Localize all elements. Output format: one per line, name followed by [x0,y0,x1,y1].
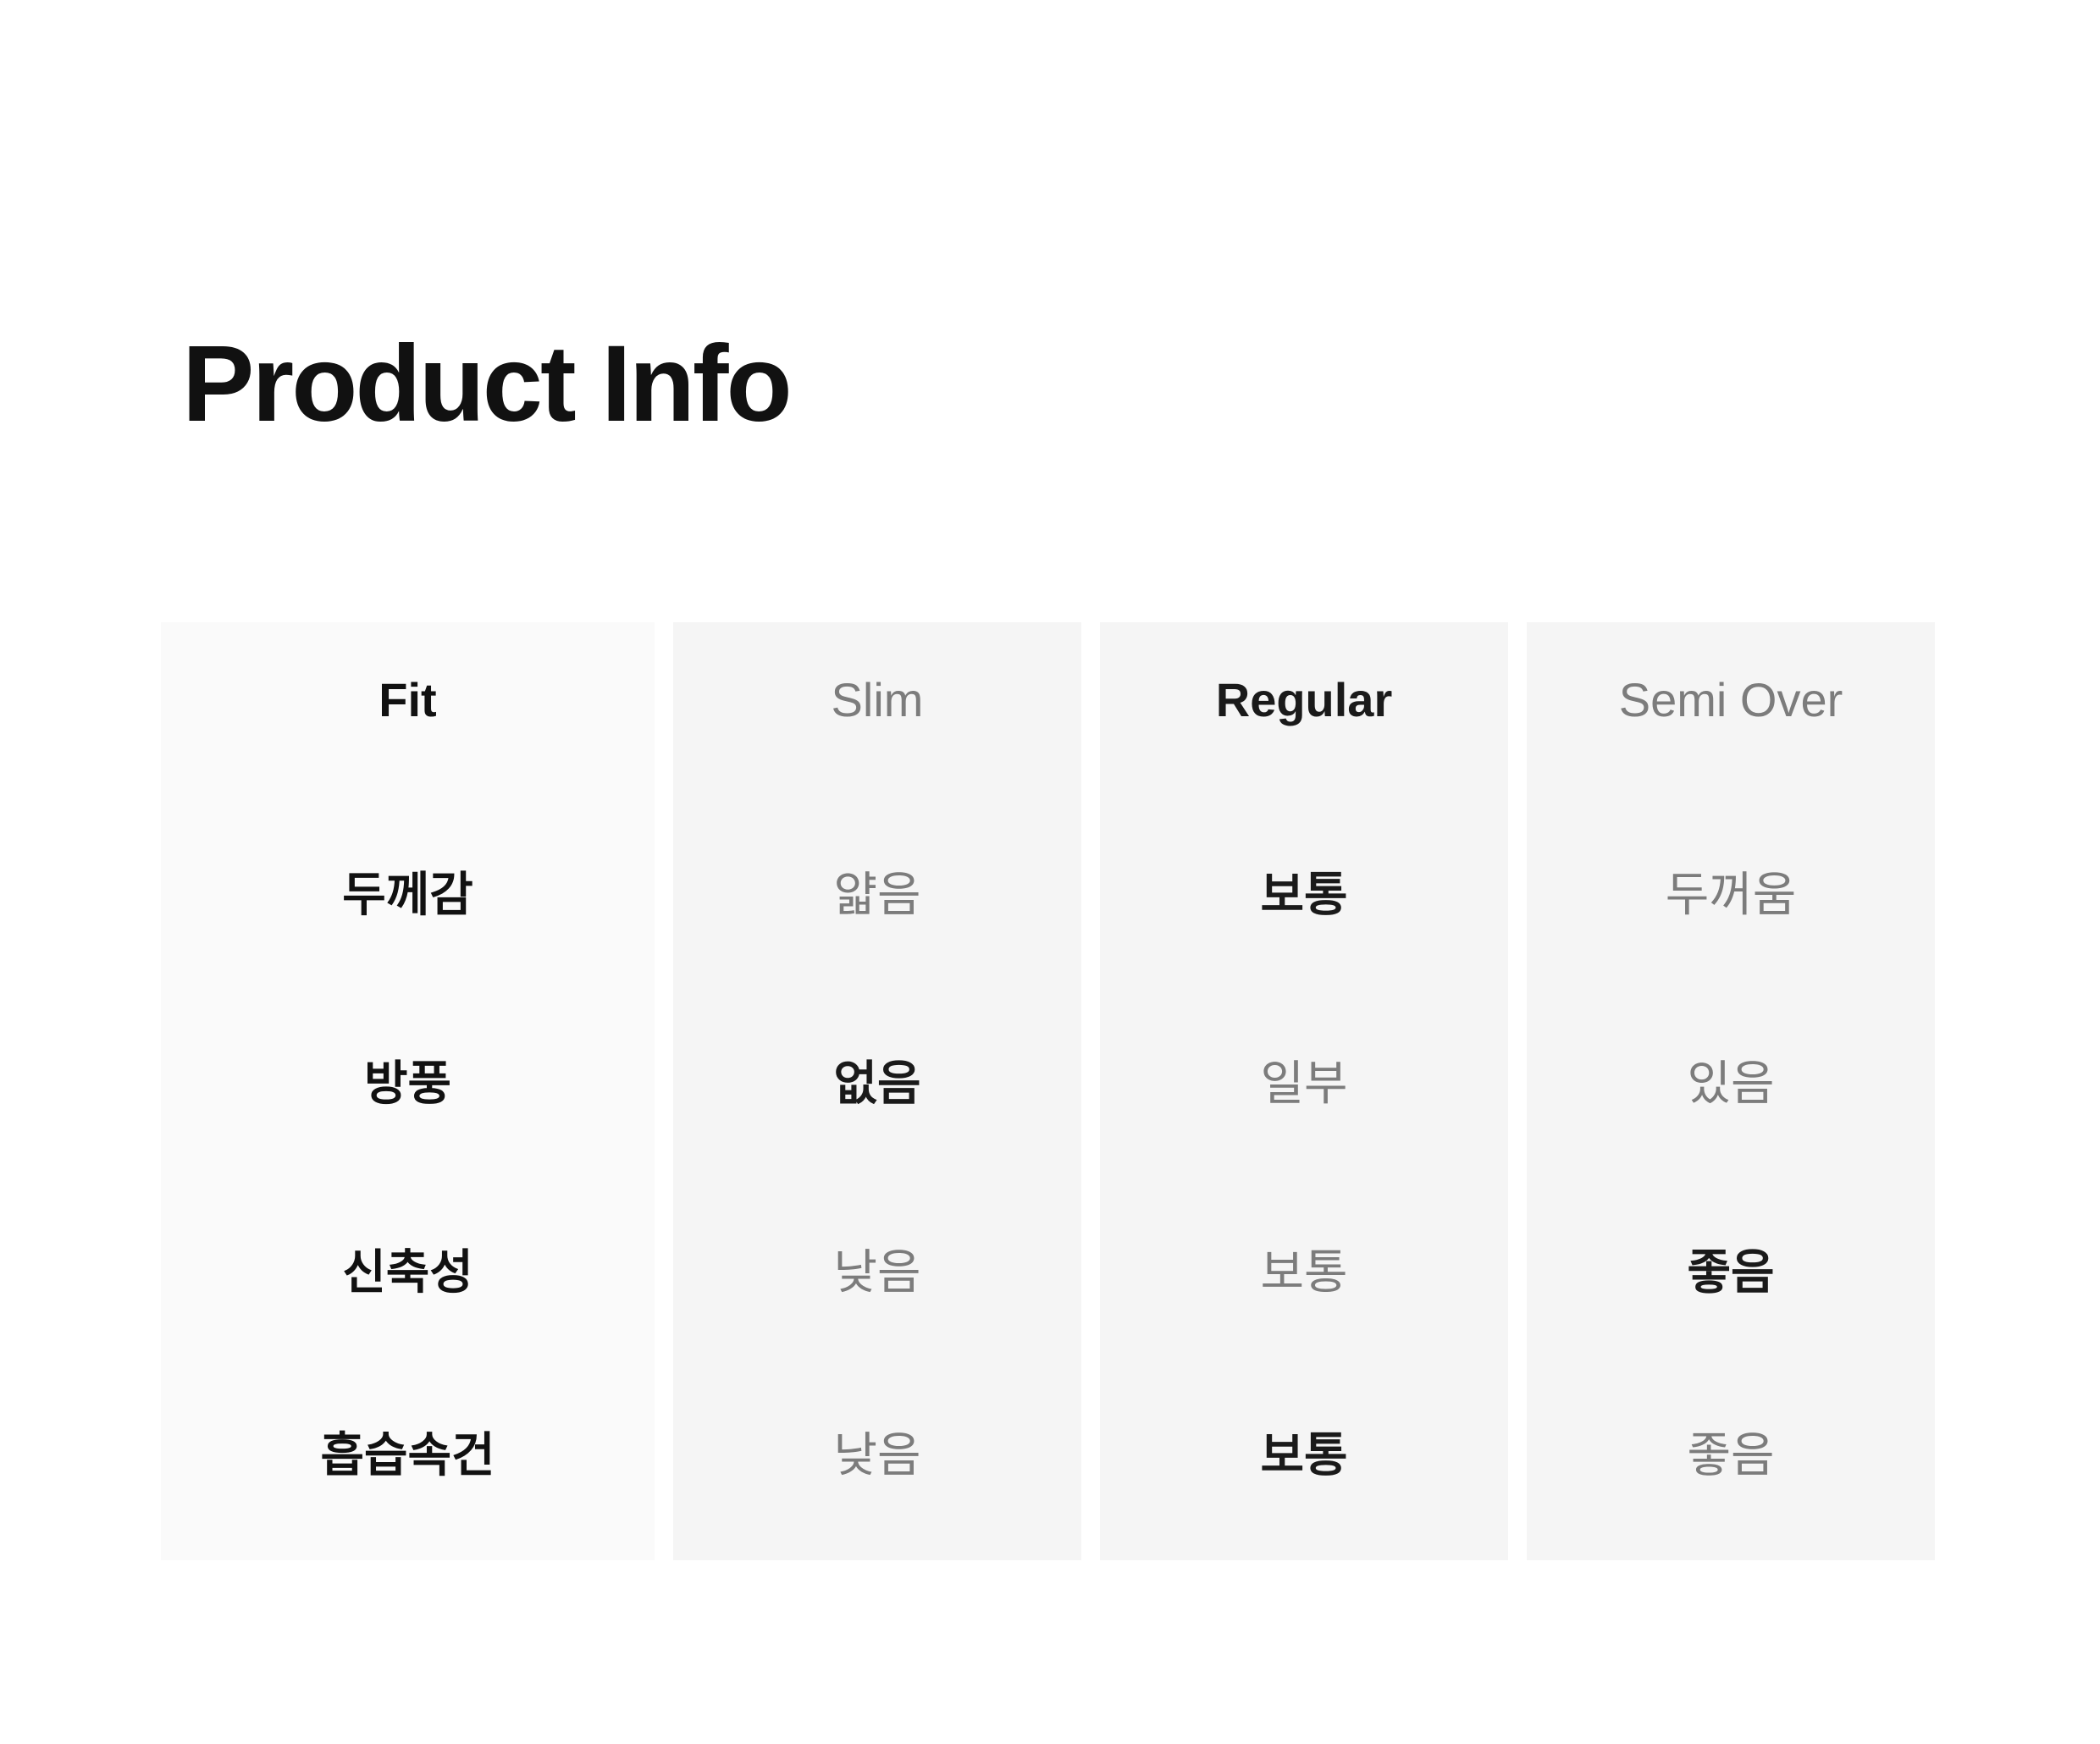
spec-cell-semi-over-stretch: 좋음 [1527,1178,1935,1366]
spec-header-fit: Fit [161,622,655,800]
spec-cell-slim-windproof: 없음 [673,989,1081,1178]
spec-row-label-windproof: 방풍 [161,989,655,1178]
product-spec-table: Fit 두께감 방풍 신축성 흡습속건 Slim 얇음 없음 낮음 낮음 Reg… [161,622,1935,1560]
spec-column-regular: Regular 보통 일부 보통 보통 [1100,622,1508,1560]
spec-header-semi-over: Semi Over [1527,622,1935,800]
spec-cell-regular-windproof: 일부 [1100,989,1508,1178]
spec-row-label-thickness: 두께감 [161,800,655,989]
spec-column-slim: Slim 얇음 없음 낮음 낮음 [673,622,1081,1560]
spec-column-label: Fit 두께감 방풍 신축성 흡습속건 [161,622,655,1560]
page-title: Product Info [182,330,790,439]
spec-cell-semi-over-thickness: 두꺼움 [1527,800,1935,989]
spec-cell-slim-stretch: 낮음 [673,1178,1081,1366]
spec-row-label-stretch: 신축성 [161,1178,655,1366]
spec-cell-regular-quickdry: 보통 [1100,1366,1508,1544]
spec-cell-semi-over-windproof: 있음 [1527,989,1935,1178]
spec-cell-slim-quickdry: 낮음 [673,1366,1081,1544]
spec-cell-semi-over-quickdry: 좋음 [1527,1366,1935,1544]
spec-row-label-quickdry: 흡습속건 [161,1366,655,1544]
spec-cell-slim-thickness: 얇음 [673,800,1081,989]
spec-header-slim: Slim [673,622,1081,800]
spec-cell-regular-thickness: 보통 [1100,800,1508,989]
spec-cell-regular-stretch: 보통 [1100,1178,1508,1366]
spec-header-regular: Regular [1100,622,1508,800]
spec-column-semi-over: Semi Over 두꺼움 있음 좋음 좋음 [1527,622,1935,1560]
